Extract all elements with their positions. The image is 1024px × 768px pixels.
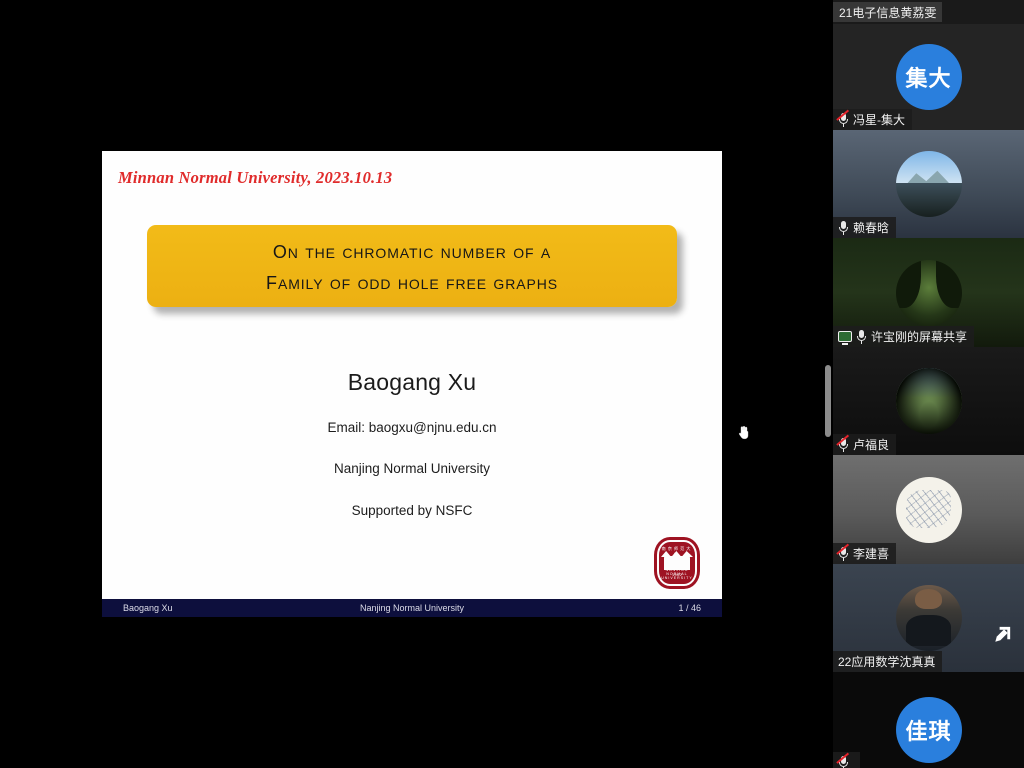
hand-cursor-icon xyxy=(738,426,750,440)
meeting-screen: Minnan Normal University, 2023.10.13 On … xyxy=(0,0,1024,768)
participant-tile-shenzhenzhen[interactable]: 22应用数学沈真真 xyxy=(833,564,1024,672)
participant-name-bar: 卢福良 xyxy=(833,434,896,455)
slide-author: Baogang Xu xyxy=(102,369,722,396)
slide-title-line-1: On the chromatic number of a xyxy=(273,236,551,265)
participant-tile-lijianxi[interactable]: 李建喜 xyxy=(833,455,1024,564)
slide-footer-bar: Baogang Xu Nanjing Normal University 1 /… xyxy=(102,599,722,617)
mic-muted-icon xyxy=(838,438,849,452)
annotate-icon[interactable] xyxy=(991,623,1014,646)
participant-tile-fengxing[interactable]: 集大 冯星-集大 xyxy=(833,24,1024,130)
slide-title-line-2: family of odd hole free graphs xyxy=(266,267,558,296)
participant-name-bar: 22应用数学沈真真 xyxy=(833,651,942,672)
participant-name-bar: 赖春晗 xyxy=(833,217,896,238)
shared-screen-area[interactable]: Minnan Normal University, 2023.10.13 On … xyxy=(0,0,833,768)
participant-name-bar: 李建喜 xyxy=(833,543,896,564)
slide-support: Supported by NSFC xyxy=(102,503,722,518)
avatar xyxy=(896,477,962,543)
participant-tile-lufuliang[interactable]: 卢福良 xyxy=(833,347,1024,455)
participant-name-label: 21电子信息黄荔雯 xyxy=(833,2,942,22)
participant-name: 冯星-集大 xyxy=(853,111,905,128)
participant-name-bar: 冯星-集大 xyxy=(833,109,912,130)
crest-bottom-text: NANJING NORMAL UNIVERSITY xyxy=(659,568,695,580)
participant-name: 李建喜 xyxy=(853,545,889,562)
presentation-slide[interactable]: Minnan Normal University, 2023.10.13 On … xyxy=(102,151,722,617)
slide-affiliation: Nanjing Normal University xyxy=(102,461,722,476)
participant-tile-cropped[interactable]: 21电子信息黄荔雯 xyxy=(833,0,1024,24)
participant-tile-xubaogang-screenshare[interactable]: 许宝刚的屏幕共享 xyxy=(833,238,1024,347)
avatar: 佳琪 xyxy=(896,697,962,763)
mic-muted-icon xyxy=(838,547,849,561)
participant-name-bar: 许宝刚的屏幕共享 xyxy=(833,326,974,347)
participant-name: 22应用数学沈真真 xyxy=(838,653,935,670)
mic-icon xyxy=(856,330,867,344)
avatar xyxy=(896,260,962,326)
avatar xyxy=(896,585,962,651)
participant-name: 卢福良 xyxy=(853,436,889,453)
mic-muted-icon xyxy=(838,756,849,768)
footer-institution: Nanjing Normal University xyxy=(102,603,722,613)
participant-name: 许宝刚的屏幕共享 xyxy=(871,328,967,345)
mic-icon xyxy=(838,221,849,235)
footer-page-number: 1 / 46 xyxy=(678,603,701,613)
avatar xyxy=(896,368,962,434)
participant-name-bar xyxy=(833,752,860,768)
participant-name: 赖春晗 xyxy=(853,219,889,236)
university-crest-logo: 南京师范大学 1902 NANJING NORMAL UNIVERSITY xyxy=(654,537,700,589)
avatar: 集大 xyxy=(896,44,962,110)
participant-strip[interactable]: 21电子信息黄荔雯 集大 冯星-集大 赖春晗 xyxy=(833,0,1024,768)
participant-strip-scrollbar[interactable] xyxy=(825,365,831,437)
participant-tile-jiaqi[interactable]: 佳琪 xyxy=(833,672,1024,768)
slide-date-line: Minnan Normal University, 2023.10.13 xyxy=(118,168,392,188)
mic-muted-icon xyxy=(838,113,849,127)
slide-email: Email: baogxu@njnu.edu.cn xyxy=(102,420,722,435)
slide-title-box: On the chromatic number of a family of o… xyxy=(147,225,677,307)
avatar xyxy=(896,151,962,217)
participant-tile-laichunhui[interactable]: 赖春晗 xyxy=(833,130,1024,238)
screen-share-icon xyxy=(838,331,852,342)
